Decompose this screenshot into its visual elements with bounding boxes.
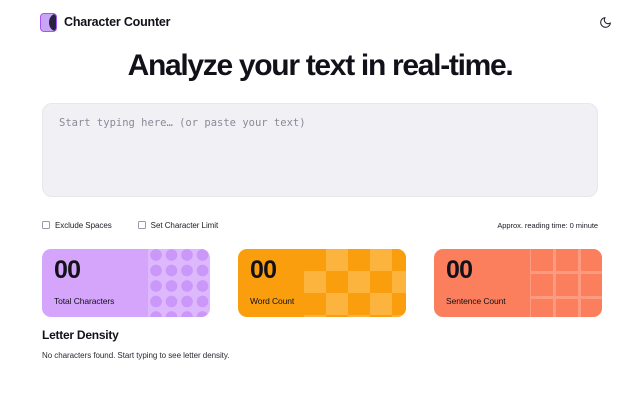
- option-set-character-limit[interactable]: Set Character Limit: [138, 221, 219, 230]
- brand[interactable]: Character Counter: [40, 13, 170, 32]
- stat-card-total-characters: 00 Total Characters: [42, 249, 210, 317]
- stat-card-sentence-count: 00 Sentence Count: [434, 249, 602, 317]
- letter-density-empty-message: No characters found. Start typing to see…: [42, 351, 598, 360]
- letter-density-title: Letter Density: [42, 328, 598, 342]
- stat-label-total-characters: Total Characters: [54, 296, 210, 306]
- stat-label-word-count: Word Count: [250, 296, 406, 306]
- reading-time-text: Approx. reading time: 0 minute: [497, 221, 598, 230]
- stat-cards: 00 Total Characters 00 Word Count 00 Sen…: [42, 249, 598, 317]
- stat-value-sentence-count: 00: [446, 258, 602, 283]
- theme-toggle-button[interactable]: [592, 9, 618, 35]
- app-header: Character Counter: [0, 0, 640, 44]
- stat-label-sentence-count: Sentence Count: [446, 296, 602, 306]
- stat-card-word-count: 00 Word Count: [238, 249, 406, 317]
- checkbox-exclude-spaces[interactable]: [42, 221, 50, 229]
- stat-value-word-count: 00: [250, 258, 406, 283]
- options-row: Exclude Spaces Set Character Limit Appro…: [42, 218, 598, 232]
- option-label-exclude-spaces: Exclude Spaces: [55, 221, 112, 230]
- letter-density-section: Letter Density No characters found. Star…: [42, 328, 598, 360]
- checkbox-set-character-limit[interactable]: [138, 221, 146, 229]
- moon-icon: [599, 16, 612, 29]
- option-label-set-character-limit: Set Character Limit: [151, 221, 219, 230]
- logo-mark-icon: [40, 13, 57, 32]
- brand-name: Character Counter: [64, 15, 170, 29]
- stat-value-total-characters: 00: [54, 258, 210, 283]
- page-title: Analyze your text in real-time.: [0, 48, 640, 83]
- text-input[interactable]: [42, 103, 598, 197]
- option-exclude-spaces[interactable]: Exclude Spaces: [42, 221, 112, 230]
